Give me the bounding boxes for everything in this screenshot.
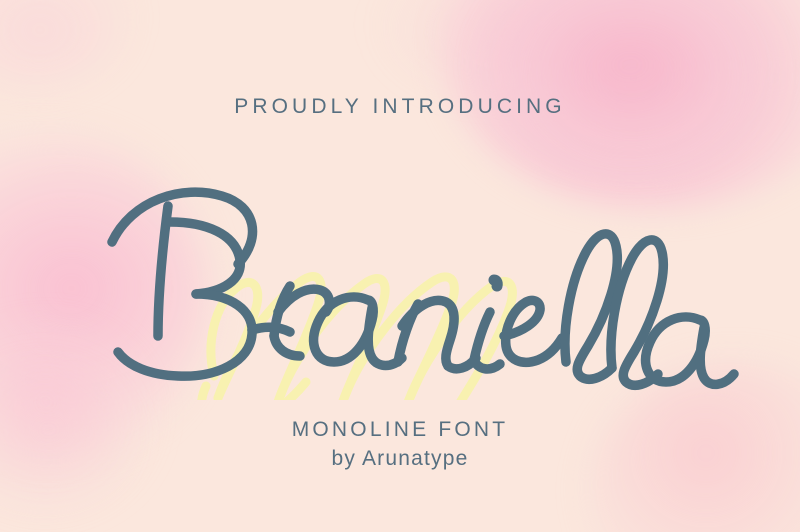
kicker-text: PROUDLY INTRODUCING (0, 95, 800, 119)
footer-block: MONOLINE FONT by Arunatype (0, 416, 800, 475)
footer-font-style-label: MONOLINE FONT (0, 416, 800, 444)
wordmark: Braniella (0, 130, 800, 400)
font-promo-poster: PROUDLY INTRODUCING Braniella (0, 0, 800, 532)
footer-author-label: by Arunatype (0, 444, 800, 474)
wordmark-svg: Braniella (0, 130, 800, 400)
